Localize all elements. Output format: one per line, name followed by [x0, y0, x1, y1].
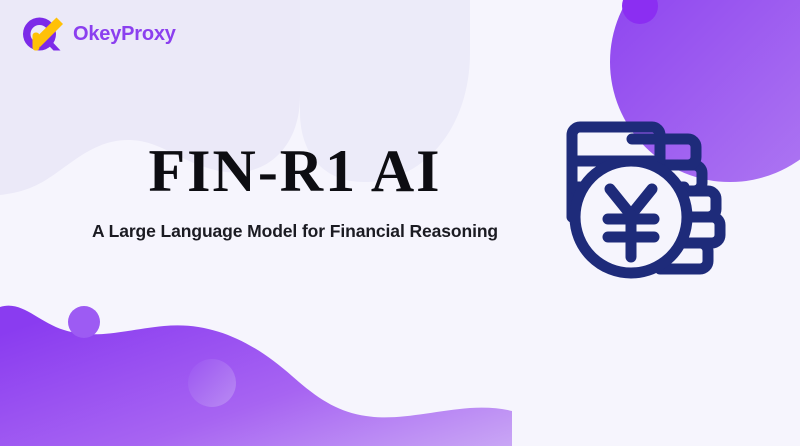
hero-text-block: FIN-R1 AI A Large Language Model for Fin…: [60, 140, 530, 242]
brand-name: OkeyProxy: [73, 23, 176, 46]
page-title: FIN-R1 AI: [60, 140, 530, 203]
bottom-left-small-circle: [68, 306, 100, 338]
page-subtitle: A Large Language Model for Financial Rea…: [60, 221, 530, 242]
okeyproxy-ok-monogram-icon: [18, 12, 64, 56]
brand-logo[interactable]: OkeyProxy: [18, 12, 176, 56]
stacked-coins-yen-icon: [548, 103, 738, 293]
promotional-banner: OkeyProxy FIN-R1 AI A Large Language Mod…: [0, 0, 800, 446]
bottom-left-medium-circle: [188, 359, 236, 407]
